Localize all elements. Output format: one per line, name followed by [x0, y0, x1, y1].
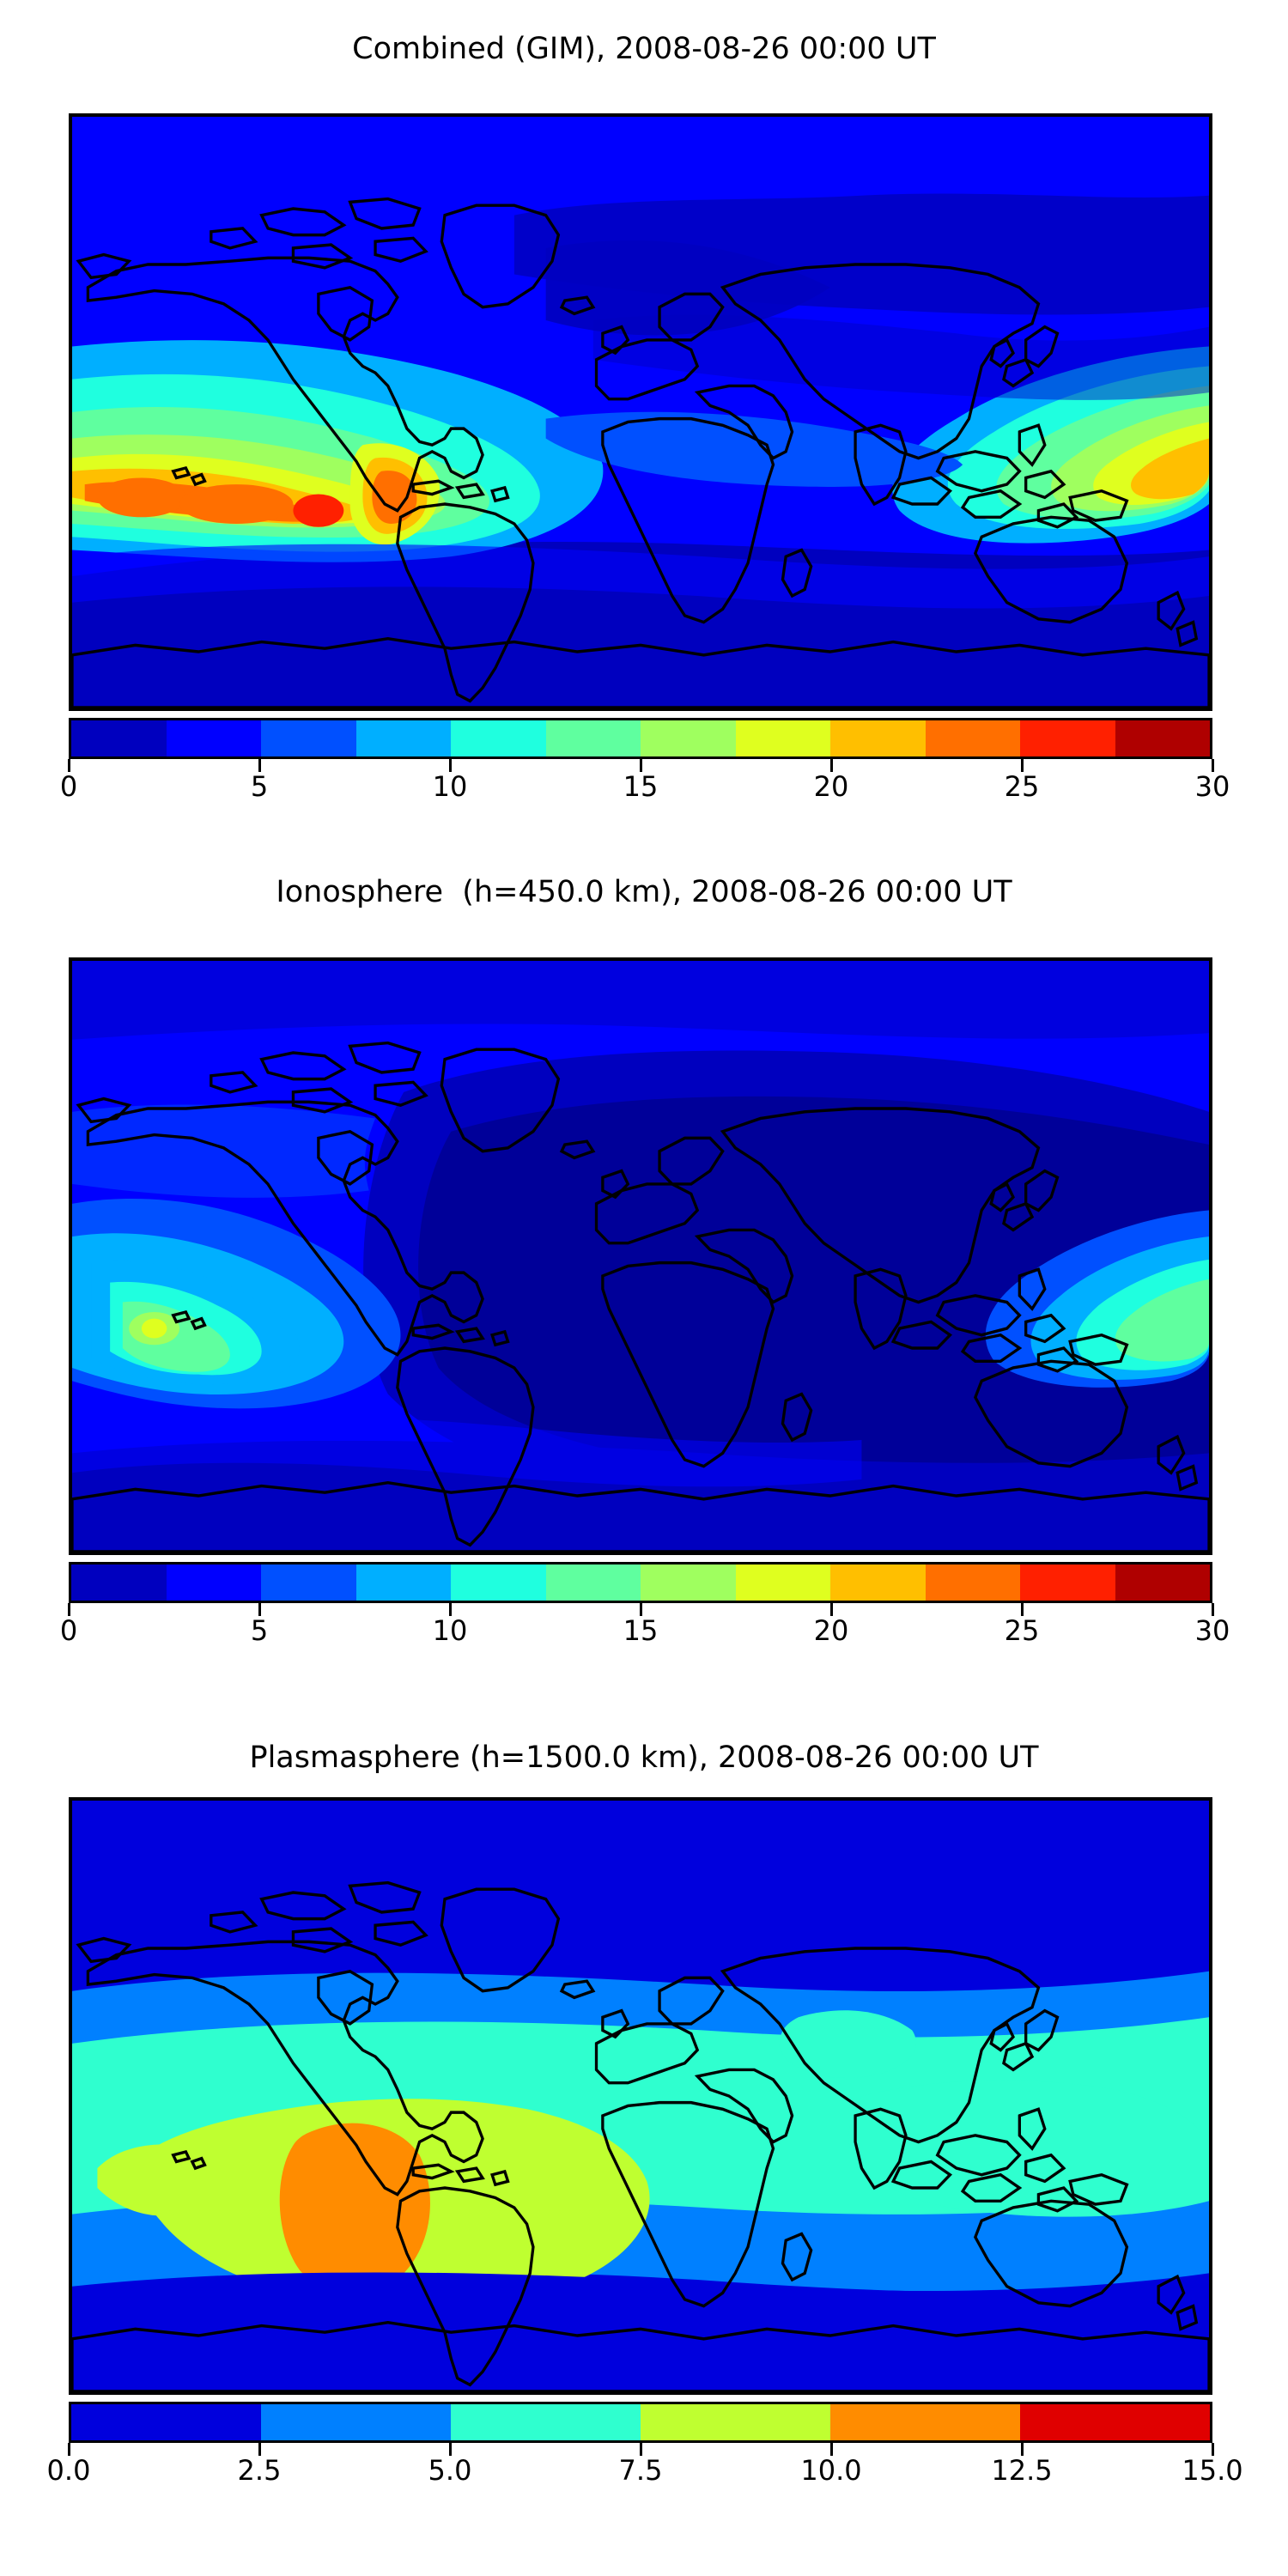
cbar-segment — [926, 720, 1021, 756]
cbar-tick-label: 25 — [1005, 1617, 1040, 1644]
map-combined-canvas — [72, 117, 1209, 708]
colorbar-combined: 0 5 10 15 20 25 30 — [69, 718, 1212, 759]
cbar-tick-label: 12.5 — [991, 2457, 1052, 2484]
colorbar-plasmasphere-gradient — [69, 2402, 1212, 2443]
cbar-tick-label: 5.0 — [428, 2457, 472, 2484]
colorbar-ionosphere-gradient — [69, 1562, 1212, 1603]
cbar-tick-label: 15.0 — [1182, 2457, 1242, 2484]
cbar-segment — [261, 2404, 451, 2440]
figure-canvas: Combined (GIM), 2008-08-26 00:00 UT — [0, 0, 1288, 2576]
cbar-segment — [546, 720, 641, 756]
cbar-tick-label: 5 — [251, 773, 268, 800]
panel-title-plasmasphere: Plasmasphere (h=1500.0 km), 2008-08-26 0… — [0, 1743, 1288, 1773]
panel-ionosphere: Ionosphere (h=450.0 km), 2008-08-26 00:0… — [0, 878, 1288, 1728]
panel-combined: Combined (GIM), 2008-08-26 00:00 UT — [0, 34, 1288, 859]
cbar-tick-label: 0.0 — [47, 2457, 91, 2484]
cbar-segment — [451, 1564, 546, 1601]
cbar-segment — [736, 1564, 831, 1601]
colorbar-ionosphere-axis: 0 5 10 15 20 25 30 — [69, 1603, 1212, 1643]
cbar-tick-label: 15 — [623, 1617, 659, 1644]
map-plasmasphere — [69, 1797, 1212, 2395]
cbar-tick-label: 10.0 — [800, 2457, 861, 2484]
panel-plasmasphere: Plasmasphere (h=1500.0 km), 2008-08-26 0… — [0, 1743, 1288, 2567]
cbar-segment — [356, 1564, 452, 1601]
cbar-segment — [830, 1564, 926, 1601]
map-ionosphere-canvas — [72, 961, 1209, 1552]
cbar-segment — [356, 720, 452, 756]
cbar-tick-label: 20 — [814, 773, 849, 800]
panel-title-combined: Combined (GIM), 2008-08-26 00:00 UT — [0, 34, 1288, 64]
colorbar-ionosphere: 0 5 10 15 20 25 30 — [69, 1562, 1212, 1603]
panel-title-ionosphere: Ionosphere (h=450.0 km), 2008-08-26 00:0… — [0, 878, 1288, 908]
colorbar-combined-axis: 0 5 10 15 20 25 30 — [69, 759, 1212, 799]
cbar-segment — [926, 1564, 1021, 1601]
colorbar-plasmasphere-axis: 0.0 2.5 5.0 7.5 10.0 12.5 15.0 — [69, 2443, 1212, 2482]
cbar-segment — [71, 2404, 261, 2440]
cbar-tick-label: 20 — [814, 1617, 849, 1644]
cbar-tick-label: 0 — [60, 773, 77, 800]
cbar-segment — [167, 720, 262, 756]
cbar-tick-label: 25 — [1005, 773, 1040, 800]
cbar-segment — [1115, 1564, 1211, 1601]
cbar-segment — [451, 720, 546, 756]
cbar-tick-label: 5 — [251, 1617, 268, 1644]
cbar-segment — [71, 1564, 167, 1601]
cbar-segment — [1115, 720, 1211, 756]
cbar-tick-label: 10 — [433, 773, 468, 800]
colorbar-plasmasphere: 0.0 2.5 5.0 7.5 10.0 12.5 15.0 — [69, 2402, 1212, 2443]
cbar-segment — [167, 1564, 262, 1601]
cbar-tick-label: 2.5 — [238, 2457, 282, 2484]
cbar-tick-label: 30 — [1195, 773, 1230, 800]
cbar-segment — [1020, 1564, 1115, 1601]
cbar-segment — [546, 1564, 641, 1601]
cbar-segment — [641, 1564, 736, 1601]
cbar-segment — [261, 720, 356, 756]
cbar-tick-label: 30 — [1195, 1617, 1230, 1644]
cbar-segment — [451, 2404, 641, 2440]
cbar-segment — [1020, 2404, 1210, 2440]
cbar-segment — [736, 720, 831, 756]
map-ionosphere — [69, 957, 1212, 1555]
cbar-segment — [641, 2404, 830, 2440]
cbar-segment — [830, 2404, 1020, 2440]
cbar-segment — [1020, 720, 1115, 756]
cbar-segment — [71, 720, 167, 756]
colorbar-combined-gradient — [69, 718, 1212, 759]
cbar-segment — [261, 1564, 356, 1601]
cbar-tick-label: 10 — [433, 1617, 468, 1644]
map-plasmasphere-canvas — [72, 1801, 1209, 2391]
cbar-tick-label: 7.5 — [619, 2457, 663, 2484]
cbar-segment — [830, 720, 926, 756]
map-combined — [69, 113, 1212, 711]
cbar-segment — [641, 720, 736, 756]
cbar-tick-label: 0 — [60, 1617, 77, 1644]
cbar-tick-label: 15 — [623, 773, 659, 800]
